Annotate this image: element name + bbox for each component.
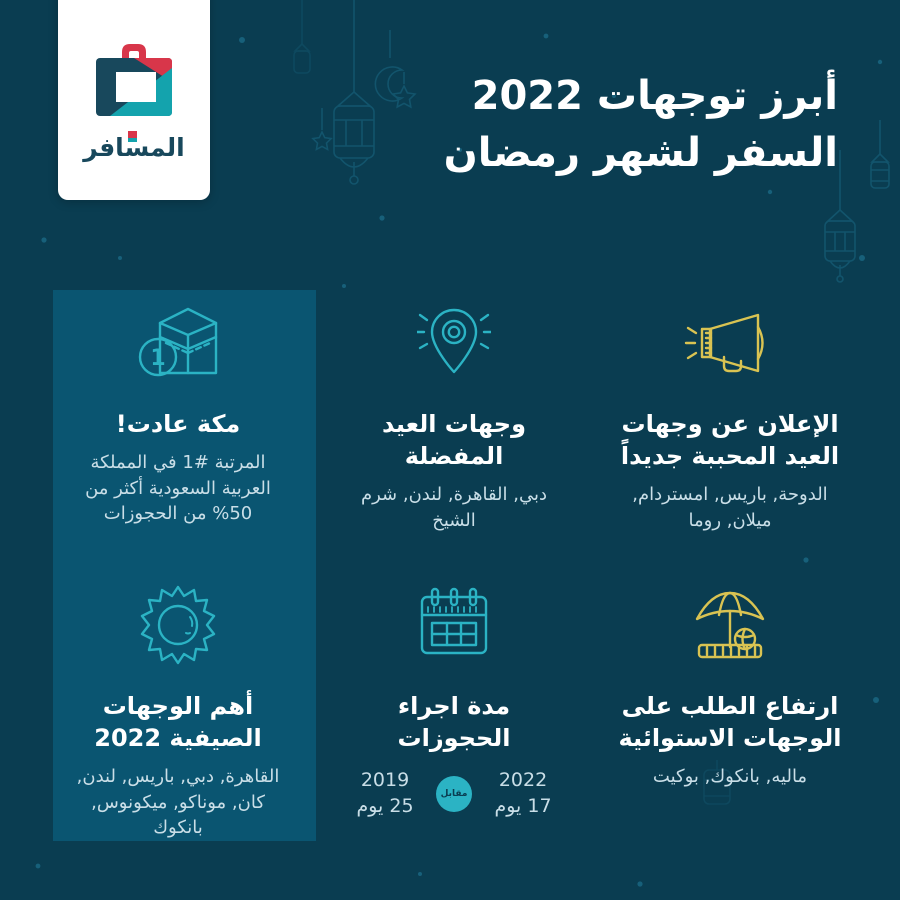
card-announcement[interactable]: الإعلان عن وجهات العيد المحببة جديداً ال… (592, 300, 868, 582)
card-title: أهم الوجهات الصيفية 2022 (66, 690, 290, 754)
page-title-line-2: السفر لشهر رمضان (368, 125, 838, 182)
rank-badge-number: 1 (150, 346, 165, 371)
card-title: مكة عادت! (116, 408, 241, 440)
compare-current: 2022 17 يوم (486, 768, 560, 819)
card-subtitle: القاهرة, دبي, باريس, لندن, كان, موناكو, … (69, 764, 287, 841)
infographic-canvas: المسافر أبرز توجهات 2022 السفر لشهر رمضا… (0, 0, 900, 900)
sun-icon (136, 583, 220, 667)
card-title: وجهات العيد المفضلة (342, 408, 566, 472)
card-subtitle: ماليه, بانكوك, بوكيت (653, 764, 807, 790)
calendar-icon (414, 585, 494, 665)
card-title: الإعلان عن وجهات العيد المحببة جديداً (618, 408, 842, 472)
location-pin-icon (417, 300, 491, 386)
suitcase-icon (88, 38, 180, 124)
card-icon-wrap (414, 582, 494, 668)
kaaba-icon: 1 (132, 303, 224, 383)
logo-wordmark: المسافر (82, 130, 186, 164)
logo-card[interactable]: المسافر (58, 0, 210, 200)
megaphone-icon (684, 307, 776, 379)
compare-current-year: 2022 (486, 768, 560, 794)
hanging-lantern-icon (294, 0, 310, 73)
card-makkah[interactable]: 1 مكة عادت! المرتبة #1 في المملكة العربي… (40, 300, 316, 582)
card-tropical-demand[interactable]: ارتفاع الطلب على الوجهات الاستوائية مالي… (592, 582, 868, 864)
card-icon-wrap: 1 (132, 300, 224, 386)
beach-umbrella-icon (687, 585, 773, 665)
star-icon (313, 108, 331, 149)
page-title-line-1: أبرز توجهات 2022 (368, 68, 838, 125)
versus-badge: مقابل (436, 776, 472, 812)
card-icon-wrap (684, 300, 776, 386)
card-icon-wrap (136, 582, 220, 668)
compare-previous: 2019 25 يوم (348, 768, 422, 819)
card-subtitle: الدوحة, باريس, امستردام, ميلان, روما (621, 482, 839, 533)
compare-previous-year: 2019 (348, 768, 422, 794)
compare-current-days: 17 يوم (486, 794, 560, 820)
card-subtitle: المرتبة #1 في المملكة العربية السعودية أ… (69, 450, 287, 527)
booking-window-comparison: 2022 17 يوم مقابل 2019 25 يوم (348, 768, 560, 819)
card-eid-destinations[interactable]: وجهات العيد المفضلة دبي, القاهرة, لندن, … (316, 300, 592, 582)
compare-previous-days: 25 يوم (348, 794, 422, 820)
cards-grid: الإعلان عن وجهات العيد المحببة جديداً ال… (40, 300, 868, 864)
card-icon-wrap (687, 582, 773, 668)
card-icon-wrap (417, 300, 491, 386)
hanging-lantern-icon (871, 120, 889, 188)
page-title: أبرز توجهات 2022 السفر لشهر رمضان (368, 68, 838, 182)
card-booking-window[interactable]: مدة اجراء الحجوزات 2022 17 يوم مقابل 201… (316, 582, 592, 864)
card-title: ارتفاع الطلب على الوجهات الاستوائية (618, 690, 842, 754)
card-summer-destinations[interactable]: أهم الوجهات الصيفية 2022 القاهرة, دبي, ب… (40, 582, 316, 864)
card-title: مدة اجراء الحجوزات (342, 690, 566, 754)
card-subtitle: دبي, القاهرة, لندن, شرم الشيخ (345, 482, 563, 533)
